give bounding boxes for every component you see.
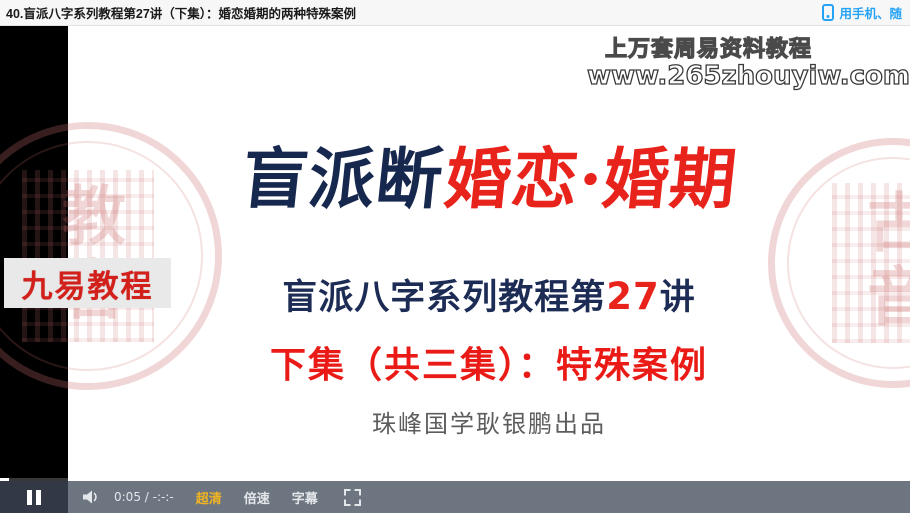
- time-total: -:-:-: [153, 490, 174, 504]
- letterbox-left: [0, 26, 68, 481]
- mobile-phone-icon: [822, 4, 834, 21]
- series-number: 27: [606, 275, 660, 318]
- volume-button[interactable]: [78, 488, 104, 506]
- slide-content: 盲派断婚恋·婚期 盲派八字系列教程第27讲 下集（共三集）：特殊案例 珠峰国学耿…: [68, 26, 910, 481]
- video-stage[interactable]: 教音 古音 上万套周易资料教程 www.265zhouyiw.com 九易教程 …: [0, 26, 910, 513]
- slide-author-line: 珠峰国学耿银鹏出品: [68, 404, 910, 439]
- subtitle-button[interactable]: 字幕: [292, 488, 318, 507]
- time-separator: /: [145, 490, 149, 504]
- pause-button[interactable]: [0, 481, 68, 513]
- time-current: 0:05: [114, 490, 141, 504]
- slide-subtitle-episode: 下集（共三集）：特殊案例: [68, 336, 910, 388]
- video-player-window: 40.盲派八字系列教程第27讲（下集）：婚恋婚期的两种特殊案例 用手机、随 教音…: [0, 0, 910, 513]
- series-prefix: 盲派八字系列教程第: [282, 278, 606, 318]
- mobile-hint-label: 用手机、随: [839, 3, 902, 22]
- playback-speed-button[interactable]: 倍速: [244, 488, 270, 507]
- hero-title-red: 婚恋·婚期: [441, 146, 740, 212]
- hero-title-dark: 盲派断: [238, 146, 446, 212]
- fullscreen-button[interactable]: [344, 488, 362, 506]
- mobile-hint-group[interactable]: 用手机、随: [822, 3, 902, 22]
- slide-hero-title: 盲派断婚恋·婚期: [68, 146, 910, 212]
- quality-button[interactable]: 超清: [196, 488, 222, 507]
- slide-subtitle-series: 盲派八字系列教程第27讲: [68, 269, 910, 320]
- series-suffix: 讲: [660, 278, 696, 318]
- pause-icon: [27, 490, 41, 505]
- title-bar: 40.盲派八字系列教程第27讲（下集）：婚恋婚期的两种特殊案例 用手机、随: [0, 0, 910, 26]
- volume-icon: [81, 488, 101, 506]
- page-title: 40.盲派八字系列教程第27讲（下集）：婚恋婚期的两种特殊案例: [6, 3, 356, 22]
- player-controls: 0:05 / -:-:- 超清 倍速 字幕: [0, 481, 910, 513]
- fullscreen-icon: [344, 489, 361, 506]
- time-display: 0:05 / -:-:-: [114, 490, 174, 504]
